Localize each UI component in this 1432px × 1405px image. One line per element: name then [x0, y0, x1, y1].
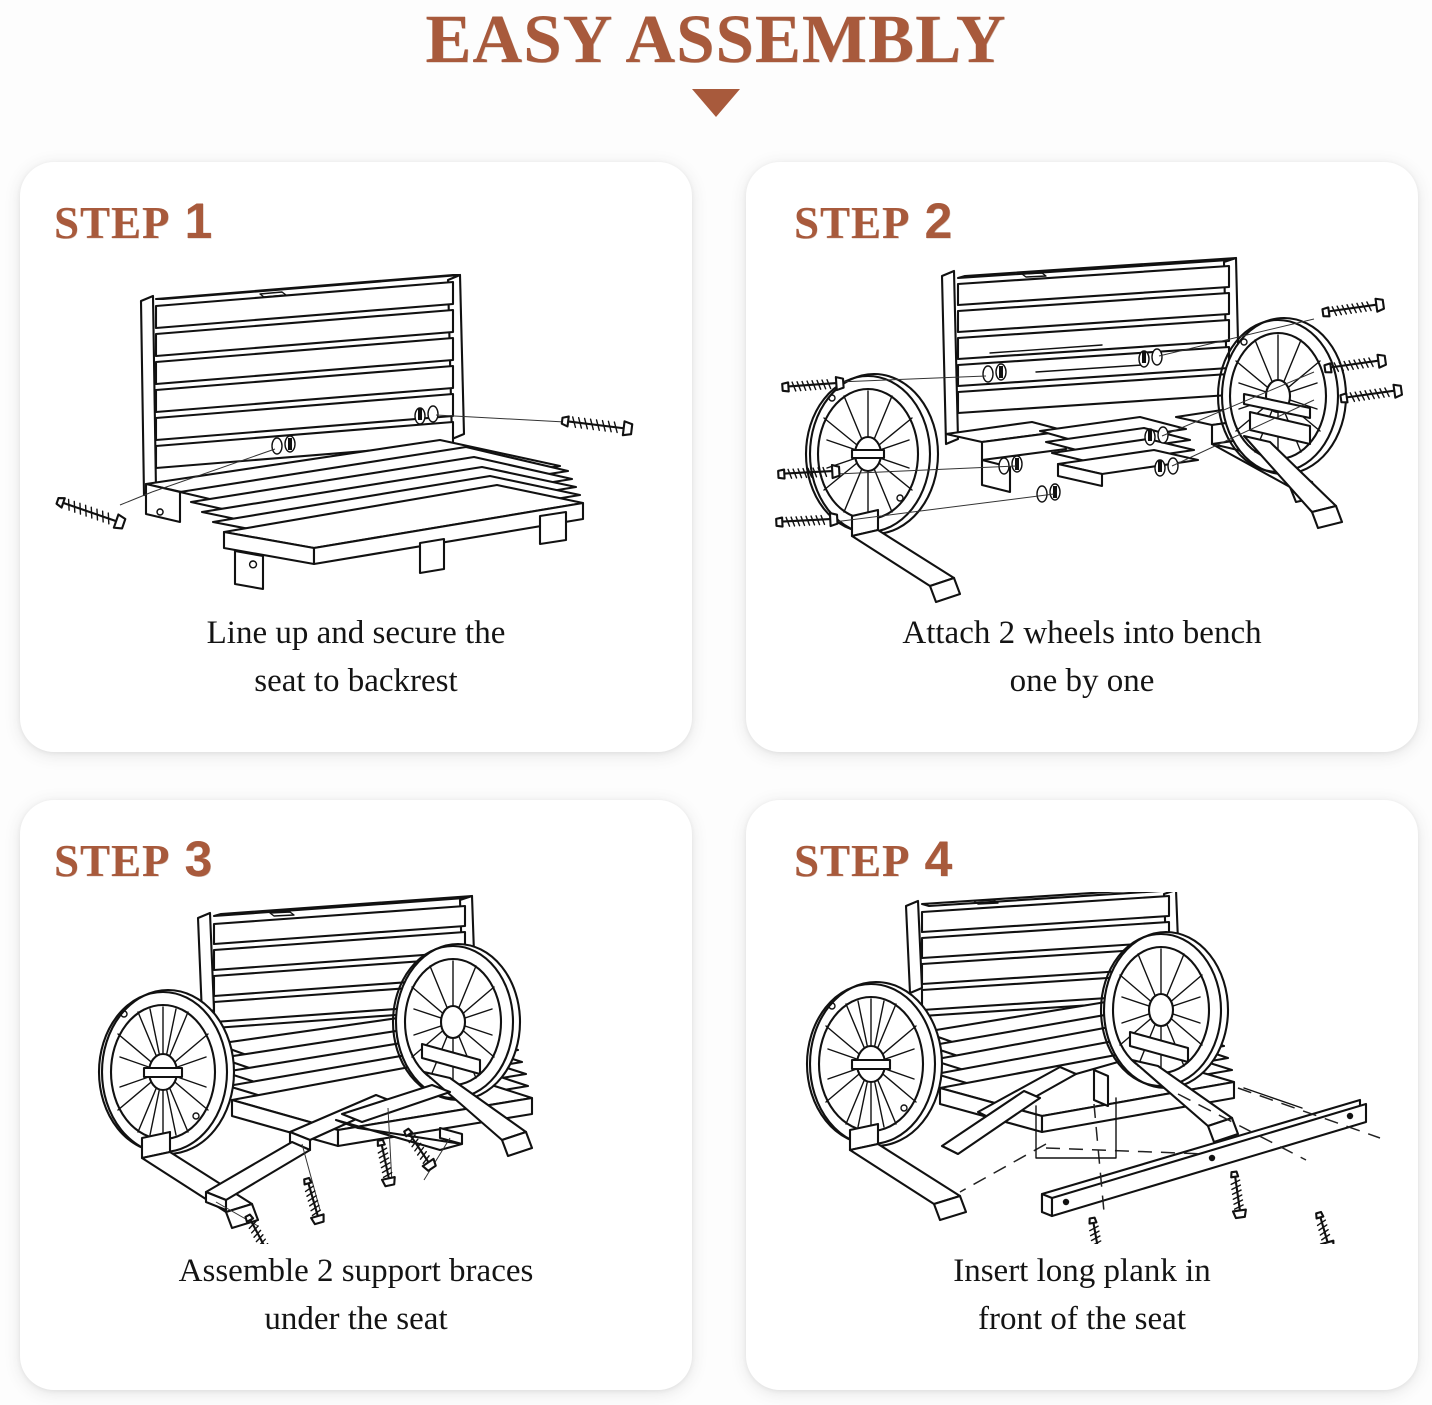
step-card-4[interactable]: STEP 4 — [746, 800, 1418, 1390]
step-1-caption-line2: seat to backrest — [60, 658, 652, 706]
step-2-caption-line1: Attach 2 wheels into bench — [902, 615, 1261, 651]
step-3-caption-line2: under the seat — [60, 1296, 652, 1344]
step-3-caption: Assemble 2 support braces under the seat — [60, 1248, 652, 1344]
step-3-heading: STEP 3 — [54, 834, 212, 887]
step-card-2[interactable]: STEP 2 — [746, 162, 1418, 752]
step-2-label: STEP — [794, 197, 911, 249]
step-1-label: STEP — [54, 197, 171, 249]
step-3-number: 3 — [185, 834, 213, 884]
triangle-down-icon — [692, 89, 740, 117]
step-3-caption-line1: Assemble 2 support braces — [179, 1253, 534, 1289]
step-3-label: STEP — [54, 835, 171, 887]
step-1-caption-line1: Line up and secure the — [207, 615, 506, 651]
step-4-caption-line2: front of the seat — [786, 1296, 1378, 1344]
header: EASY ASSEMBLY — [0, 0, 1432, 142]
step-4-number: 4 — [925, 834, 953, 884]
steps-grid: STEP 1 — [20, 162, 1418, 1390]
step-2-caption-line2: one by one — [786, 658, 1378, 706]
step-1-caption: Line up and secure the seat to backrest — [60, 610, 652, 706]
step-2-heading: STEP 2 — [794, 196, 952, 249]
step-4-illustration — [746, 892, 1418, 1244]
step-card-1[interactable]: STEP 1 — [20, 162, 692, 752]
step-2-number: 2 — [925, 196, 953, 246]
page-title: EASY ASSEMBLY — [0, 0, 1432, 77]
step-2-caption: Attach 2 wheels into bench one by one — [786, 610, 1378, 706]
step-1-illustration — [20, 254, 692, 606]
infographic-page: EASY ASSEMBLY STEP 1 — [0, 0, 1432, 1405]
step-1-heading: STEP 1 — [54, 196, 212, 249]
step-2-illustration — [746, 254, 1418, 606]
step-card-3[interactable]: STEP 3 — [20, 800, 692, 1390]
step-1-number: 1 — [185, 196, 213, 246]
step-4-label: STEP — [794, 835, 911, 887]
step-4-caption: Insert long plank in front of the seat — [786, 1248, 1378, 1344]
step-4-caption-line1: Insert long plank in — [953, 1253, 1211, 1289]
step-3-illustration — [20, 892, 692, 1244]
step-4-heading: STEP 4 — [794, 834, 952, 887]
